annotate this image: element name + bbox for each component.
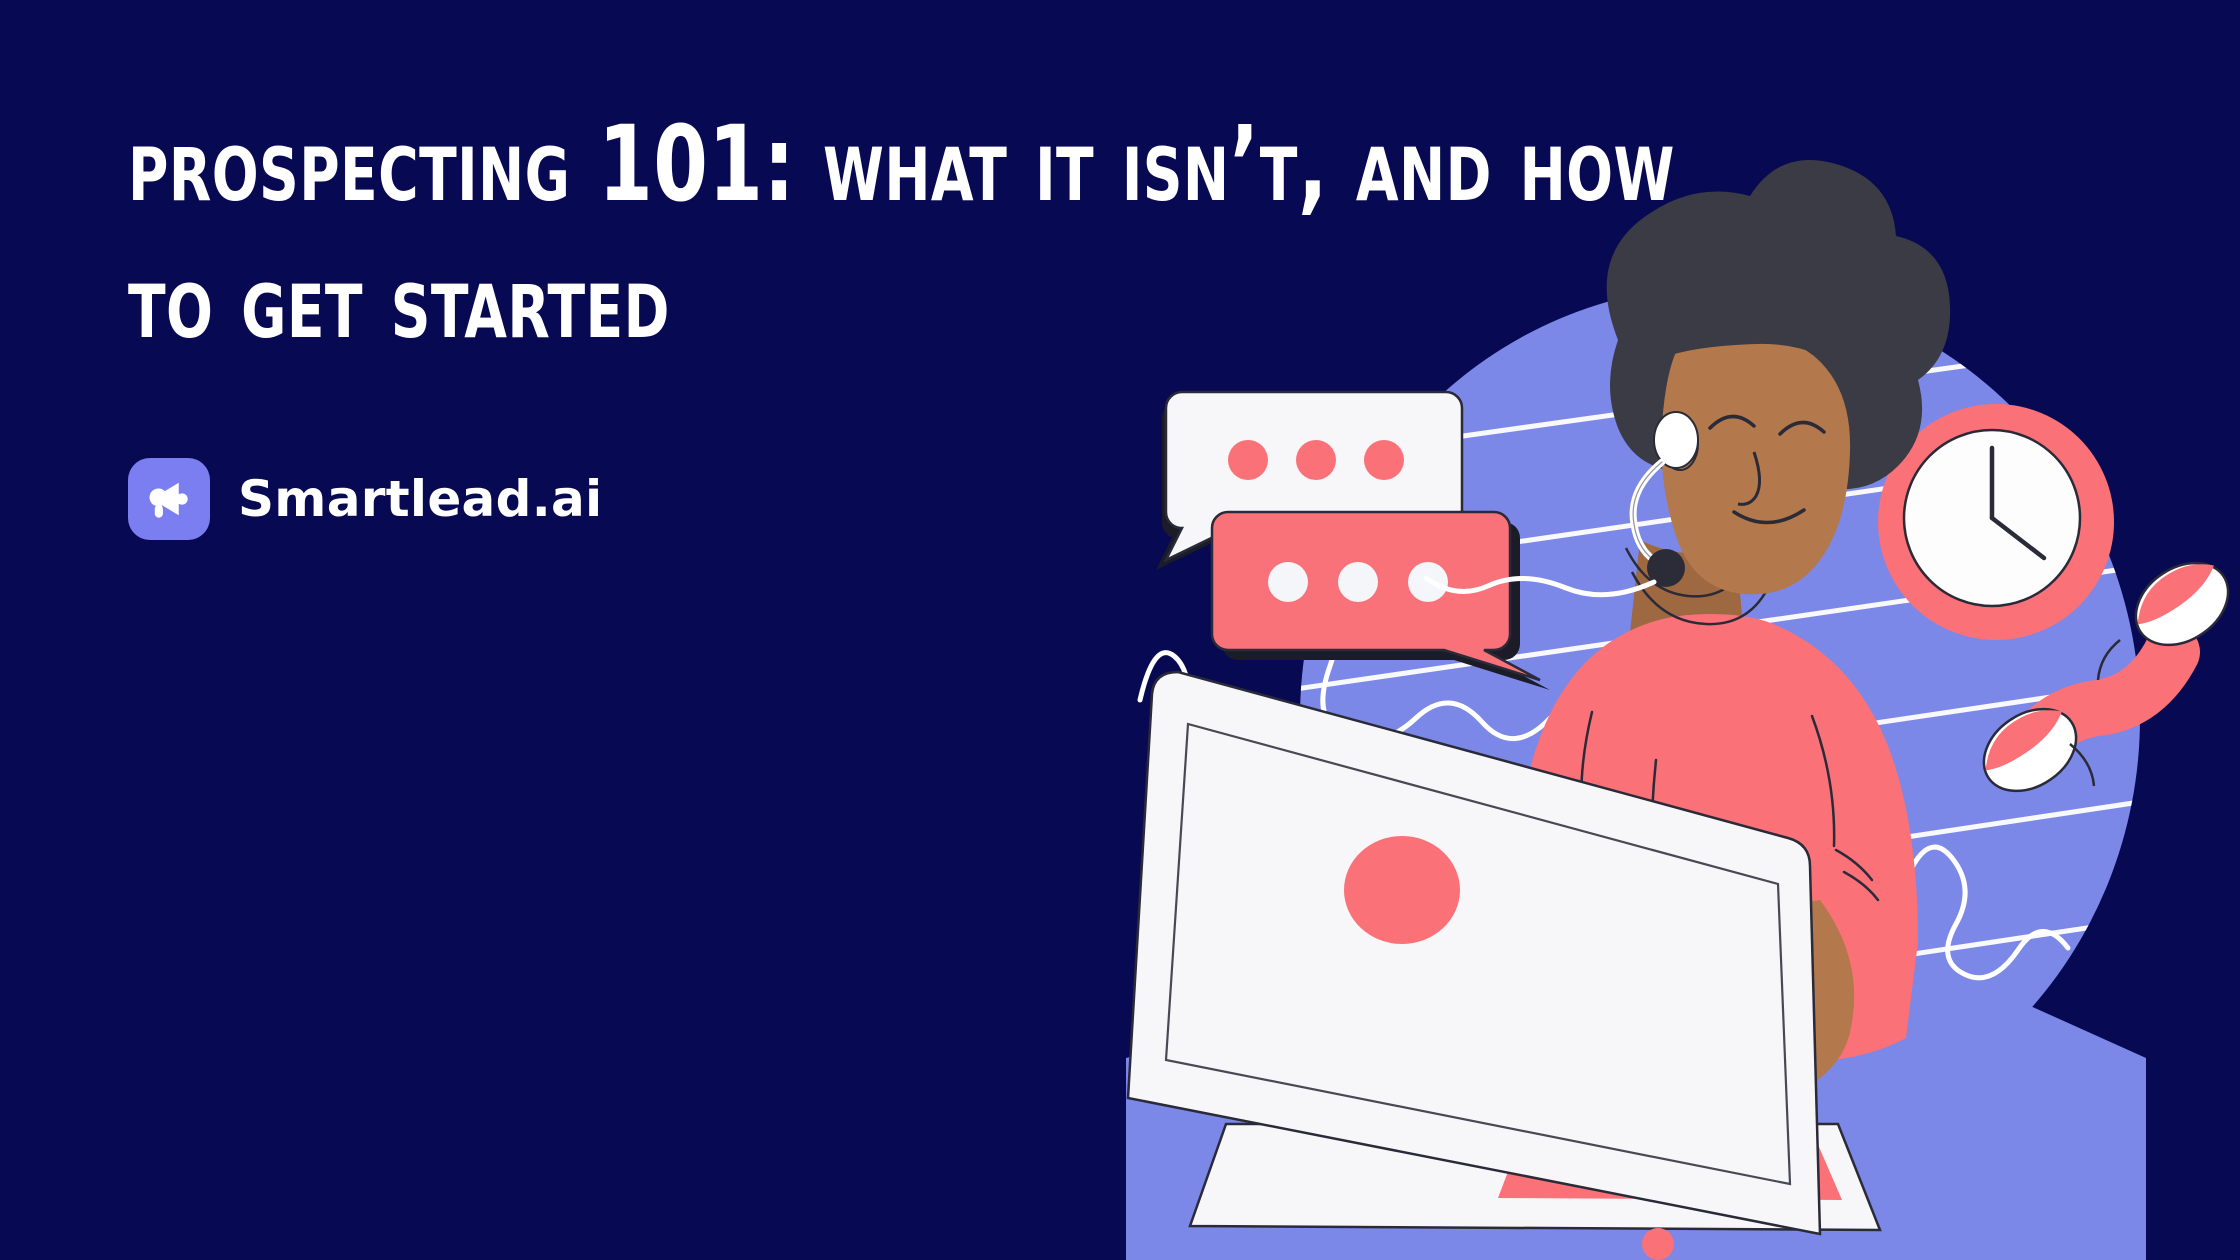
brand-name: Smartlead.ai <box>238 470 602 528</box>
bubble-dot <box>1296 440 1336 480</box>
headline-block: Prospecting 101: What It Isn’t, and How … <box>128 96 1998 371</box>
blog-banner: Prospecting 101: What It Isn’t, and How … <box>0 0 2240 1260</box>
brand-lockup[interactable]: Smartlead.ai <box>128 458 602 540</box>
megaphone-icon <box>128 458 210 540</box>
laptop-logo <box>1344 836 1460 944</box>
bubble-dot <box>1338 562 1378 602</box>
bubble-dot <box>1228 440 1268 480</box>
trackpad-dot <box>1642 1228 1674 1260</box>
bubble-dot <box>1268 562 1308 602</box>
page-title: Prospecting 101: What It Isn’t, and How … <box>128 96 1699 371</box>
bubble-dot <box>1364 440 1404 480</box>
